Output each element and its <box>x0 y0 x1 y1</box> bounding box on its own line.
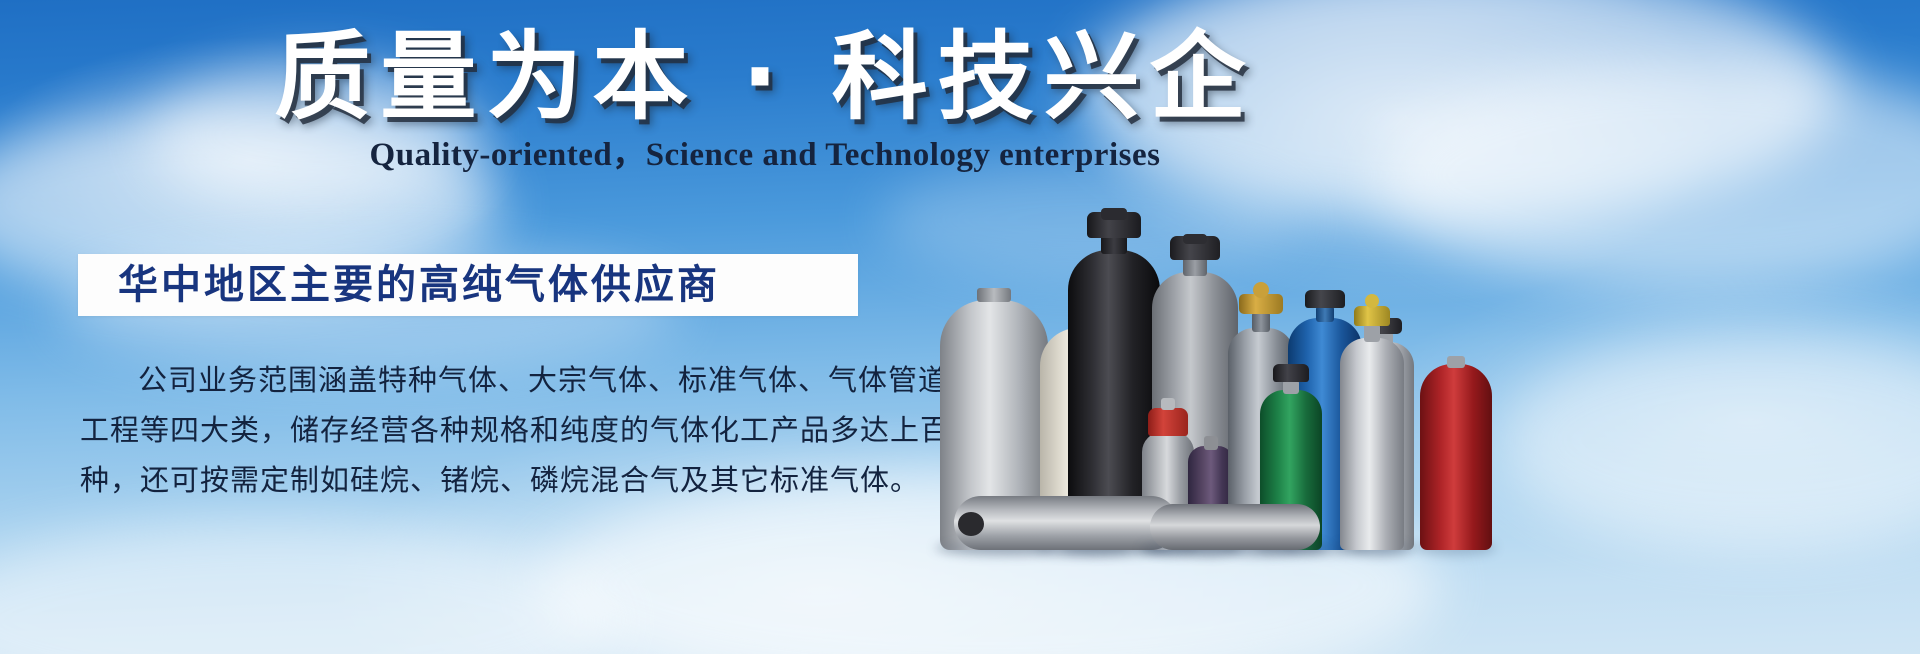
cloud-decoration <box>0 520 620 654</box>
banner-headline: 质量为本 · 科技兴企 <box>0 20 1530 135</box>
tagline-box: 华中地区主要的高纯气体供应商 <box>78 254 858 316</box>
promotional-banner: 质量为本 · 科技兴企 Quality-oriented，Science and… <box>0 0 1920 654</box>
dark-red-cylinder <box>1420 360 1492 550</box>
paragraph-line: 工程等四大类，储存经营各种规格和纯度的气体化工产品多达上百 <box>80 405 870 455</box>
tagline-text: 华中地区主要的高纯气体供应商 <box>78 262 720 308</box>
silver-yellow-valve-cylinder <box>1340 278 1404 550</box>
horizontal-grey-tank <box>954 492 1178 550</box>
cloud-decoration <box>1500 330 1920 550</box>
paragraph-line: 种，还可按需定制如硅烷、锗烷、磷烷混合气及其它标准气体。 <box>80 455 870 505</box>
body-paragraph: 公司业务范围涵盖特种气体、大宗气体、标准气体、气体管道 工程等四大类，储存经营各… <box>80 355 870 505</box>
horizontal-grey-tank <box>1150 500 1320 550</box>
paragraph-line: 公司业务范围涵盖特种气体、大宗气体、标准气体、气体管道 <box>80 355 870 405</box>
gas-cylinder-photo-group <box>940 150 1560 550</box>
